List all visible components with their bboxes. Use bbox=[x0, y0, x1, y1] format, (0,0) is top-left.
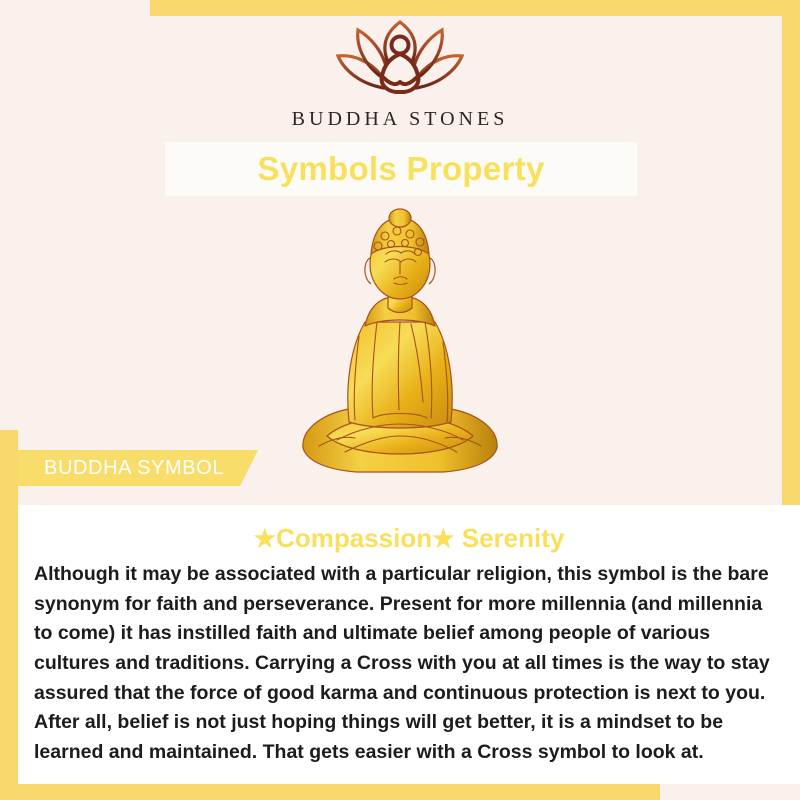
description-paragraph: Although it may be associated with a par… bbox=[26, 560, 792, 767]
brand-name: BUDDHA STONES bbox=[292, 108, 509, 131]
star-icon-1: ★ bbox=[254, 525, 276, 553]
keyword-serenity: Serenity bbox=[462, 523, 565, 553]
category-tag: BUDDHA SYMBOL bbox=[18, 450, 258, 486]
hero-image bbox=[0, 196, 800, 486]
decor-bar-top bbox=[150, 0, 800, 16]
category-tag-label: BUDDHA SYMBOL bbox=[44, 457, 224, 480]
title-banner: Symbols Property bbox=[165, 142, 637, 196]
keyword-compassion: Compassion bbox=[276, 523, 432, 553]
page-title: Symbols Property bbox=[257, 150, 544, 188]
promo-banner-page: BUDDHA STONES Symbols Property bbox=[0, 0, 800, 800]
decor-bar-bottom bbox=[0, 784, 660, 800]
keywords-subtitle: ★Compassion★ Serenity bbox=[26, 523, 792, 554]
golden-seated-buddha-statue-icon bbox=[285, 196, 515, 486]
lotus-meditation-figure-icon bbox=[310, 18, 490, 104]
star-icon-2: ★ bbox=[432, 525, 454, 553]
description-panel: ★Compassion★ Serenity Although it may be… bbox=[18, 505, 800, 784]
brand-header: BUDDHA STONES bbox=[0, 18, 800, 131]
